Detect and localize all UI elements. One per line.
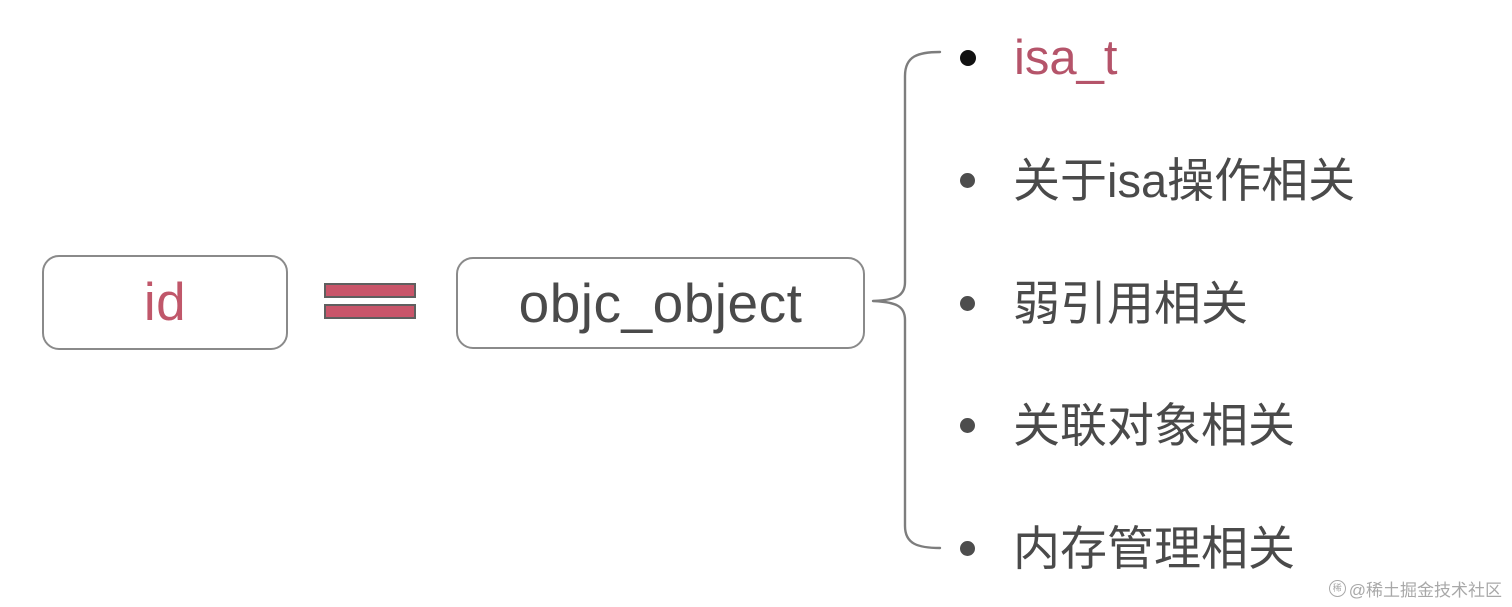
branch-label-isa-ops: 关于isa操作相关	[1013, 157, 1355, 204]
watermark-logo-icon: 稀	[1329, 580, 1346, 597]
node-objc-object-label: objc_object	[519, 276, 803, 331]
equals-bar-bottom	[324, 304, 416, 319]
diagram-canvas: id objc_object isa_t 关于isa操作相关 弱引用相关 关联对…	[0, 0, 1512, 607]
list-item: isa_t	[960, 20, 1118, 96]
list-item: 关于isa操作相关	[960, 142, 1355, 218]
branch-label-weak-ref: 弱引用相关	[1013, 280, 1248, 327]
bullet-icon	[960, 296, 975, 311]
watermark-text: @稀土掘金技术社区	[1349, 576, 1502, 601]
list-item: 关联对象相关	[960, 387, 1295, 463]
node-id-label: id	[144, 276, 186, 329]
bullet-icon	[960, 541, 975, 556]
branch-list: isa_t 关于isa操作相关 弱引用相关 关联对象相关 内存管理相关	[960, 0, 1512, 607]
equals-bar-top	[324, 283, 416, 298]
list-item: 内存管理相关	[960, 510, 1295, 586]
bullet-icon	[960, 418, 975, 433]
equals-sign	[324, 283, 416, 323]
branch-label-associated-object: 关联对象相关	[1013, 402, 1295, 449]
list-item: 弱引用相关	[960, 265, 1248, 341]
bullet-icon	[960, 50, 976, 66]
node-objc-object: objc_object	[456, 257, 865, 349]
node-id: id	[42, 255, 288, 350]
branch-label-memory-management: 内存管理相关	[1013, 525, 1295, 572]
curly-brace-icon	[860, 30, 955, 570]
branch-label-isa-t: isa_t	[1014, 34, 1118, 83]
watermark: 稀 @稀土掘金技术社区	[1329, 576, 1502, 601]
bullet-icon	[960, 173, 975, 188]
